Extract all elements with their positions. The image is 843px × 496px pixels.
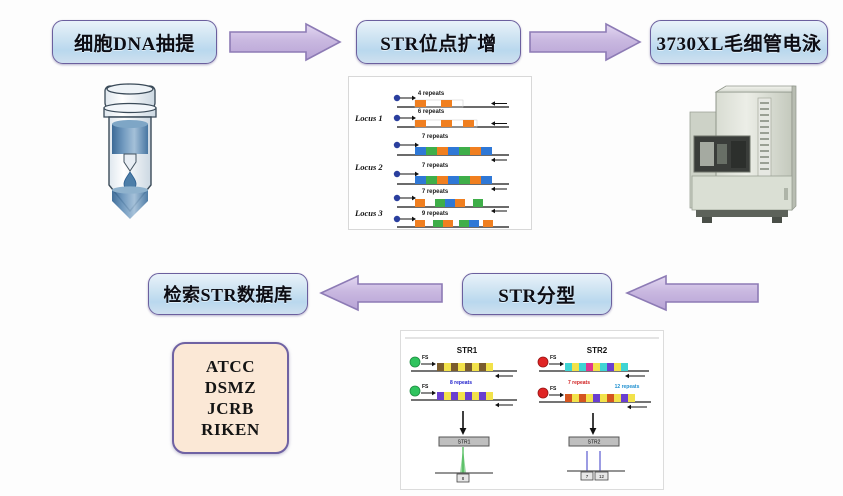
svg-text:4 repeats: 4 repeats — [418, 91, 445, 97]
svg-text:12 repeats: 12 repeats — [615, 384, 640, 390]
step-capillary-electrophoresis[interactable]: 3730XL毛细管电泳 — [650, 20, 828, 64]
str-typing-electropherogram-diagram: .ttl{font-family:"Liberation Sans","Deja… — [400, 330, 664, 490]
svg-text:FS: FS — [422, 384, 429, 390]
str-locus-repeat-diagram: .rlbl{font-family:"Liberation Sans","Dej… — [348, 76, 532, 230]
svg-text:7 repeats: 7 repeats — [422, 134, 449, 140]
database-item-jcrb: JCRB — [207, 399, 254, 419]
step-str-amplification[interactable]: STR位点扩增 — [356, 20, 521, 64]
svg-text:8 repeats: 8 repeats — [450, 380, 472, 386]
svg-text:12: 12 — [599, 474, 605, 479]
step-capillary-electrophoresis-label: 3730XL毛细管电泳 — [657, 29, 822, 56]
svg-text:STR2: STR2 — [588, 440, 601, 446]
capillary-electrophoresis-instrument — [688, 84, 810, 226]
database-item-atcc: ATCC — [206, 357, 255, 377]
database-item-dsmz: DSMZ — [205, 378, 257, 398]
svg-text:STR1: STR1 — [457, 346, 478, 355]
step-search-str-database-label: 检索STR数据库 — [163, 281, 292, 307]
svg-text:FS: FS — [550, 355, 557, 361]
svg-text:FS: FS — [422, 355, 429, 361]
svg-text:Locus 3: Locus 3 — [354, 208, 383, 218]
svg-text:FS: FS — [550, 386, 557, 392]
svg-text:6 repeats: 6 repeats — [418, 109, 445, 115]
arrow-left-2 — [624, 274, 760, 312]
step-search-str-database[interactable]: 检索STR数据库 — [148, 273, 308, 315]
database-item-riken: RIKEN — [201, 420, 260, 440]
database-list-panel: ATCC DSMZ JCRB RIKEN — [172, 342, 289, 454]
workflow-diagram: 细胞DNA抽提 STR位点扩增 3730XL毛细管电泳 — [0, 0, 843, 496]
svg-text:STR2: STR2 — [587, 346, 608, 355]
step-dna-extraction[interactable]: 细胞DNA抽提 — [52, 20, 217, 64]
svg-text:7 repeats: 7 repeats — [568, 380, 590, 386]
svg-text:7 repeats: 7 repeats — [422, 163, 449, 169]
arrow-right-1 — [228, 22, 342, 62]
svg-text:7 repeats: 7 repeats — [422, 189, 449, 195]
spin-column-tube — [88, 82, 172, 228]
svg-text:Locus 1: Locus 1 — [354, 113, 383, 123]
step-dna-extraction-label: 细胞DNA抽提 — [74, 29, 195, 56]
step-str-amplification-label: STR位点扩增 — [380, 29, 496, 56]
arrow-left-1 — [318, 274, 444, 312]
step-str-typing[interactable]: STR分型 — [462, 273, 612, 315]
svg-text:STR1: STR1 — [458, 440, 471, 446]
svg-text:9 repeats: 9 repeats — [422, 211, 449, 217]
svg-text:Locus 2: Locus 2 — [354, 162, 383, 172]
arrow-right-2 — [528, 22, 642, 62]
step-str-typing-label: STR分型 — [498, 281, 575, 308]
